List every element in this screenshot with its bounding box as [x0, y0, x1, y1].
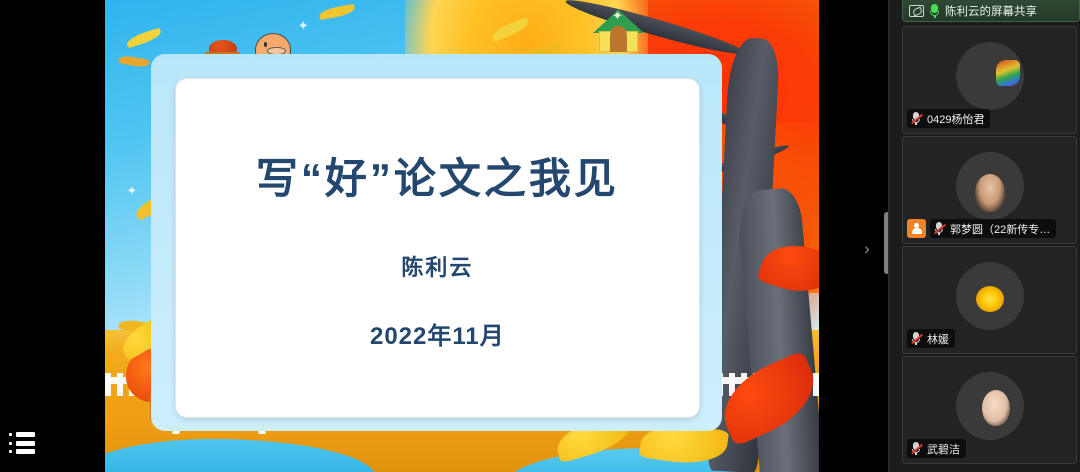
microphone-muted-icon — [911, 112, 922, 126]
slide-date: 2022年11月 — [370, 316, 505, 351]
screen-share-icon — [909, 5, 924, 17]
screen-share-label: 陈利云的屏幕共享 — [945, 3, 1037, 19]
participant-nameplate: 郭梦圆（22新传专… — [930, 219, 1056, 238]
meeting-screen-share-window: ✦ ✦ ✦ ✦ 写“好”论文之我见 — [0, 0, 1080, 472]
participant-name: 郭梦圆（22新传专… — [950, 221, 1050, 237]
participant-nameplate: 0429杨怡君 — [907, 109, 990, 128]
participant-tile[interactable]: 郭梦圆（22新传专… — [902, 136, 1077, 244]
microphone-muted-icon — [934, 222, 945, 236]
screen-share-banner[interactable]: 陈利云的屏幕共享 — [902, 0, 1080, 22]
slide-title: 写“好”论文之我见 — [256, 145, 619, 206]
sparkle-icon: ✦ — [126, 184, 137, 197]
participant-name: 0429杨怡君 — [927, 111, 984, 127]
host-person-icon — [907, 219, 926, 238]
participant-tile[interactable]: 武碧洁 — [902, 356, 1077, 464]
participant-name: 林媛 — [927, 331, 949, 347]
microphone-muted-icon — [911, 442, 922, 456]
slide-content-card: 写“好”论文之我见 陈利云 2022年11月 — [175, 78, 700, 418]
sparkle-icon: ✦ — [298, 19, 309, 32]
participant-nameplate: 武碧洁 — [907, 439, 966, 458]
avatar — [956, 42, 1024, 110]
list-row — [9, 449, 35, 454]
chevron-right-icon[interactable]: › — [860, 238, 874, 260]
participant-tile[interactable]: 林媛 — [902, 246, 1077, 354]
participants-sidebar: 陈利云的屏幕共享 0429杨怡君 郭梦圆（2 — [890, 0, 1080, 472]
participant-tile[interactable]: 0429杨怡君 — [902, 26, 1077, 134]
participant-tiles: 0429杨怡君 郭梦圆（22新传专… — [902, 26, 1080, 466]
list-row — [9, 441, 35, 446]
sparkle-icon: ✦ — [612, 9, 623, 22]
microphone-active-icon — [930, 4, 939, 18]
shared-screen-stage[interactable]: ✦ ✦ ✦ ✦ 写“好”论文之我见 — [0, 0, 888, 472]
microphone-muted-icon — [911, 332, 922, 346]
avatar — [956, 262, 1024, 330]
avatar — [956, 372, 1024, 440]
slide-author: 陈利云 — [401, 250, 473, 282]
list-view-icon[interactable] — [9, 432, 35, 454]
avatar — [956, 152, 1024, 220]
participant-name: 武碧洁 — [927, 441, 960, 457]
list-row — [9, 432, 35, 437]
presentation-slide: ✦ ✦ ✦ ✦ 写“好”论文之我见 — [105, 0, 819, 472]
participant-nameplate: 林媛 — [907, 329, 955, 348]
house-door — [610, 26, 626, 52]
